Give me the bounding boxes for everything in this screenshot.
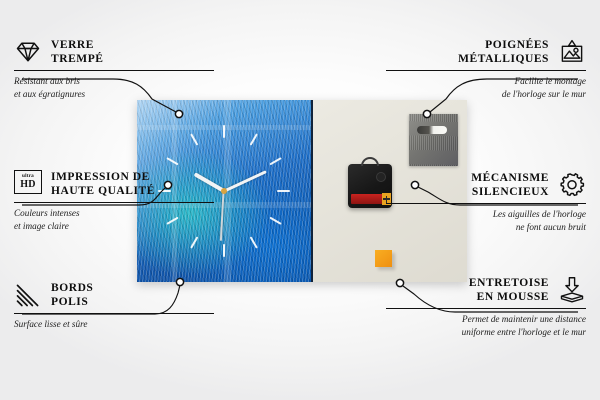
callout-title: ENTRETOISE EN MOUSSE: [469, 276, 549, 304]
callout-poignees-metalliques: POIGNÉES MÉTALLIQUES Facilite le montage…: [386, 38, 586, 100]
ultra-hd-main-label: HD: [20, 180, 36, 190]
callout-description: Permet de maintenir une distance uniform…: [386, 313, 586, 337]
callout-impression-haute-qualite: ultra HD IMPRESSION DE HAUTE QUALITÉ Cou…: [14, 170, 214, 232]
callout-description: Surface lisse et sûre: [14, 318, 214, 330]
divider: [386, 203, 586, 204]
callout-entretoise-en-mousse: ENTRETOISE EN MOUSSE Permet de maintenir…: [386, 276, 586, 338]
callout-title: MÉCANISME SILENCIEUX: [471, 171, 549, 199]
leader-dot-verre: [175, 110, 182, 117]
callout-header: MÉCANISME SILENCIEUX: [386, 171, 586, 199]
callout-title: VERRE TREMPÉ: [51, 38, 104, 66]
callout-header: ENTRETOISE EN MOUSSE: [386, 276, 586, 304]
callout-description: Résistant aux bris et aux égratignures: [14, 75, 214, 99]
callout-header: BORDS POLIS: [14, 281, 214, 309]
callout-header: POIGNÉES MÉTALLIQUES: [386, 38, 586, 66]
arrow-down-layers-icon: [558, 276, 586, 304]
diamond-icon: [14, 38, 42, 66]
divider: [14, 70, 214, 71]
callout-title: POIGNÉES MÉTALLIQUES: [458, 38, 549, 66]
callout-header: VERRE TREMPÉ: [14, 38, 214, 66]
divider: [14, 313, 214, 314]
callout-title: IMPRESSION DE HAUTE QUALITÉ: [51, 170, 155, 198]
hanging-frame-icon: [558, 38, 586, 66]
callout-header: ultra HD IMPRESSION DE HAUTE QUALITÉ: [14, 170, 214, 198]
divider: [386, 70, 586, 71]
hatched-edge-icon: [14, 281, 42, 309]
callout-description: Facilite le montage de l'horloge sur le …: [386, 75, 586, 99]
callout-title: BORDS POLIS: [51, 281, 93, 309]
ultra-hd-icon: ultra HD: [14, 170, 42, 198]
callout-verre-trempe: VERRE TREMPÉ Résistant aux bris et aux é…: [14, 38, 214, 100]
leader-dot-poignees: [423, 110, 430, 117]
callout-bords-polis: BORDS POLIS Surface lisse et sûre: [14, 281, 214, 331]
callout-description: Les aiguilles de l'horloge ne font aucun…: [386, 208, 586, 232]
infographic-canvas: VERRE TREMPÉ Résistant aux bris et aux é…: [0, 0, 600, 400]
callout-mecanisme-silencieux: MÉCANISME SILENCIEUX Les aiguilles de l'…: [386, 171, 586, 233]
divider: [386, 308, 586, 309]
gear-icon: [558, 171, 586, 199]
callout-description: Couleurs intenses et image claire: [14, 207, 214, 231]
divider: [14, 202, 214, 203]
